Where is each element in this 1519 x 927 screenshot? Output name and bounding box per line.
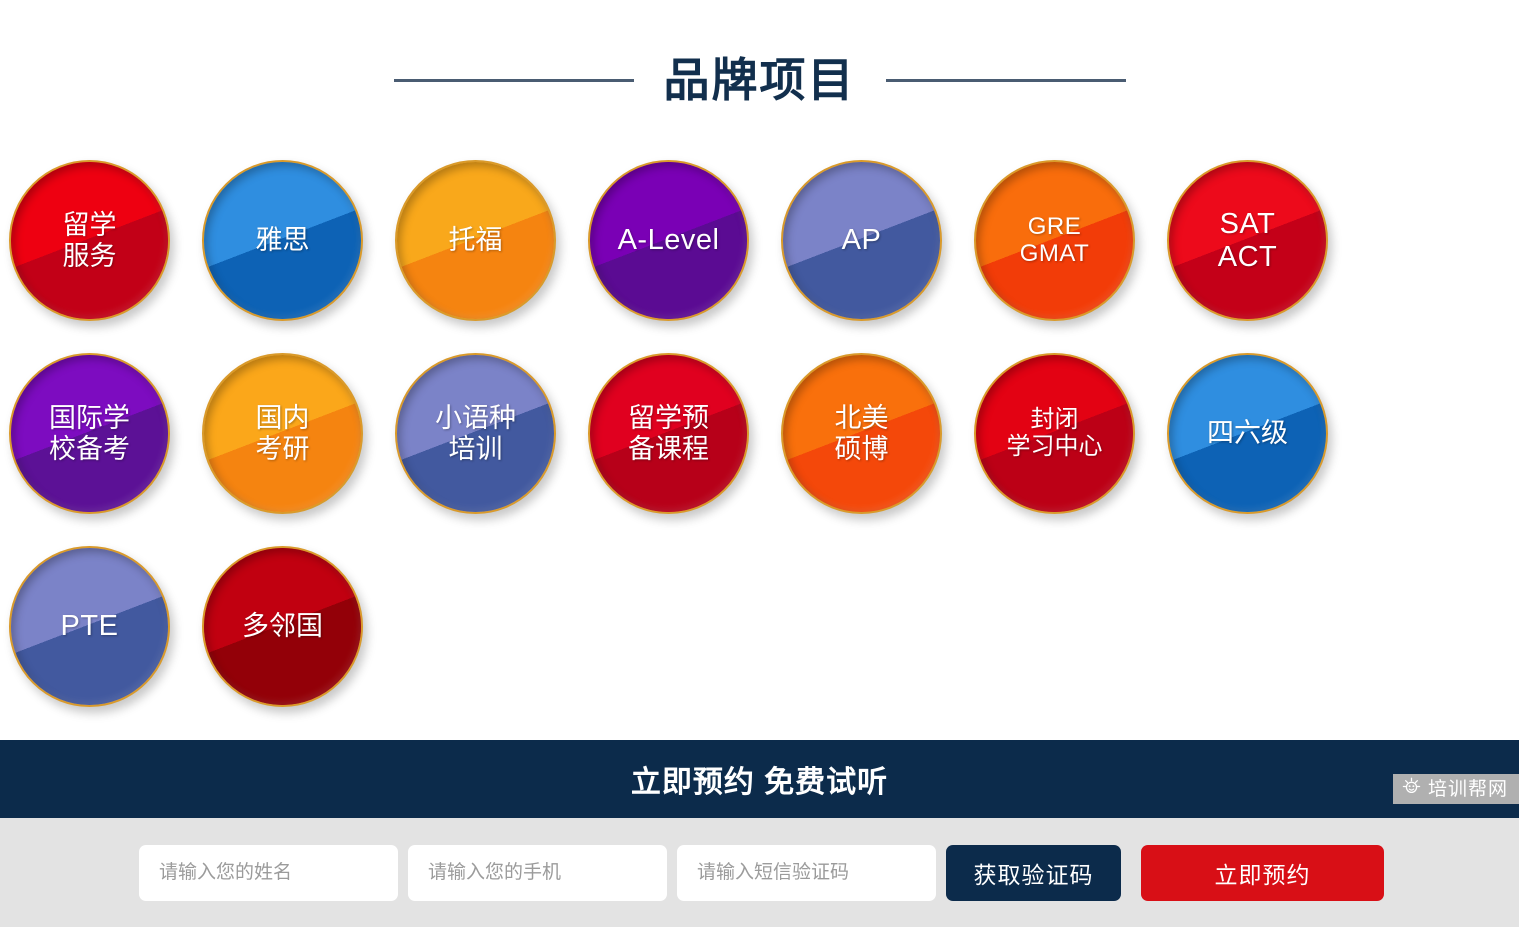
program-bubble[interactable]: A-Level bbox=[588, 160, 749, 321]
program-bubble[interactable]: 国际学 校备考 bbox=[9, 353, 170, 514]
program-bubble[interactable]: 国内 考研 bbox=[202, 353, 363, 514]
program-bubble-label: AP bbox=[836, 224, 888, 256]
smiley-sun-icon bbox=[1402, 777, 1421, 801]
program-bubble[interactable]: 留学 服务 bbox=[9, 160, 170, 321]
watermark-label: 培训帮网 bbox=[1428, 780, 1508, 799]
program-bubble-label: 雅思 bbox=[250, 225, 316, 255]
program-bubble[interactable]: 北美 硕博 bbox=[781, 353, 942, 514]
program-bubble-label: 国际学 校备考 bbox=[43, 403, 136, 463]
program-bubble-label: A-Level bbox=[612, 224, 726, 256]
cta-banner-text: 立即预约 免费试听 bbox=[631, 757, 888, 801]
program-bubble[interactable]: 托福 bbox=[395, 160, 556, 321]
program-bubble[interactable]: AP bbox=[781, 160, 942, 321]
get-sms-code-button[interactable]: 获取验证码 bbox=[946, 845, 1121, 901]
program-bubble-label: GRE GMAT bbox=[1014, 214, 1096, 268]
program-bubble-label: 小语种 培训 bbox=[429, 403, 522, 463]
program-bubble-label: SAT ACT bbox=[1212, 208, 1284, 273]
program-bubble[interactable]: 小语种 培训 bbox=[395, 353, 556, 514]
program-bubble[interactable]: 封闭 学习中心 bbox=[974, 353, 1135, 514]
heading-rule-right bbox=[886, 79, 1126, 82]
program-bubble-label: 托福 bbox=[443, 225, 509, 255]
program-bubble-label: 北美 硕博 bbox=[829, 403, 895, 463]
program-bubble-label: 四六级 bbox=[1201, 418, 1294, 448]
watermark: 培训帮网 bbox=[1393, 774, 1519, 804]
program-bubble[interactable]: 多邻国 bbox=[202, 546, 363, 707]
program-bubble-label: PTE bbox=[55, 610, 125, 642]
program-bubble[interactable]: 四六级 bbox=[1167, 353, 1328, 514]
booking-form: 获取验证码 立即预约 bbox=[0, 818, 1519, 927]
phone-input[interactable] bbox=[408, 845, 667, 901]
heading-rule-left bbox=[394, 79, 634, 82]
program-bubble-label: 封闭 学习中心 bbox=[1001, 407, 1109, 461]
program-bubble[interactable]: SAT ACT bbox=[1167, 160, 1328, 321]
program-bubble-label: 留学 服务 bbox=[57, 210, 123, 270]
name-input[interactable] bbox=[139, 845, 398, 901]
program-bubble-label: 留学预 备课程 bbox=[622, 403, 715, 463]
section-heading: 品牌项目 bbox=[0, 0, 1519, 160]
page-title: 品牌项目 bbox=[664, 57, 856, 103]
sms-code-input[interactable] bbox=[677, 845, 936, 901]
program-bubble[interactable]: PTE bbox=[9, 546, 170, 707]
submit-booking-button[interactable]: 立即预约 bbox=[1141, 845, 1384, 901]
program-bubble[interactable]: GRE GMAT bbox=[974, 160, 1135, 321]
program-bubble[interactable]: 雅思 bbox=[202, 160, 363, 321]
program-bubble-label: 多邻国 bbox=[236, 611, 329, 641]
program-bubble-label: 国内 考研 bbox=[250, 403, 316, 463]
program-bubble[interactable]: 留学预 备课程 bbox=[588, 353, 749, 514]
program-grid: 留学 服务雅思托福A-LevelAPGRE GMATSAT ACT国际学 校备考… bbox=[0, 160, 1519, 707]
cta-banner: 立即预约 免费试听 bbox=[0, 740, 1519, 818]
